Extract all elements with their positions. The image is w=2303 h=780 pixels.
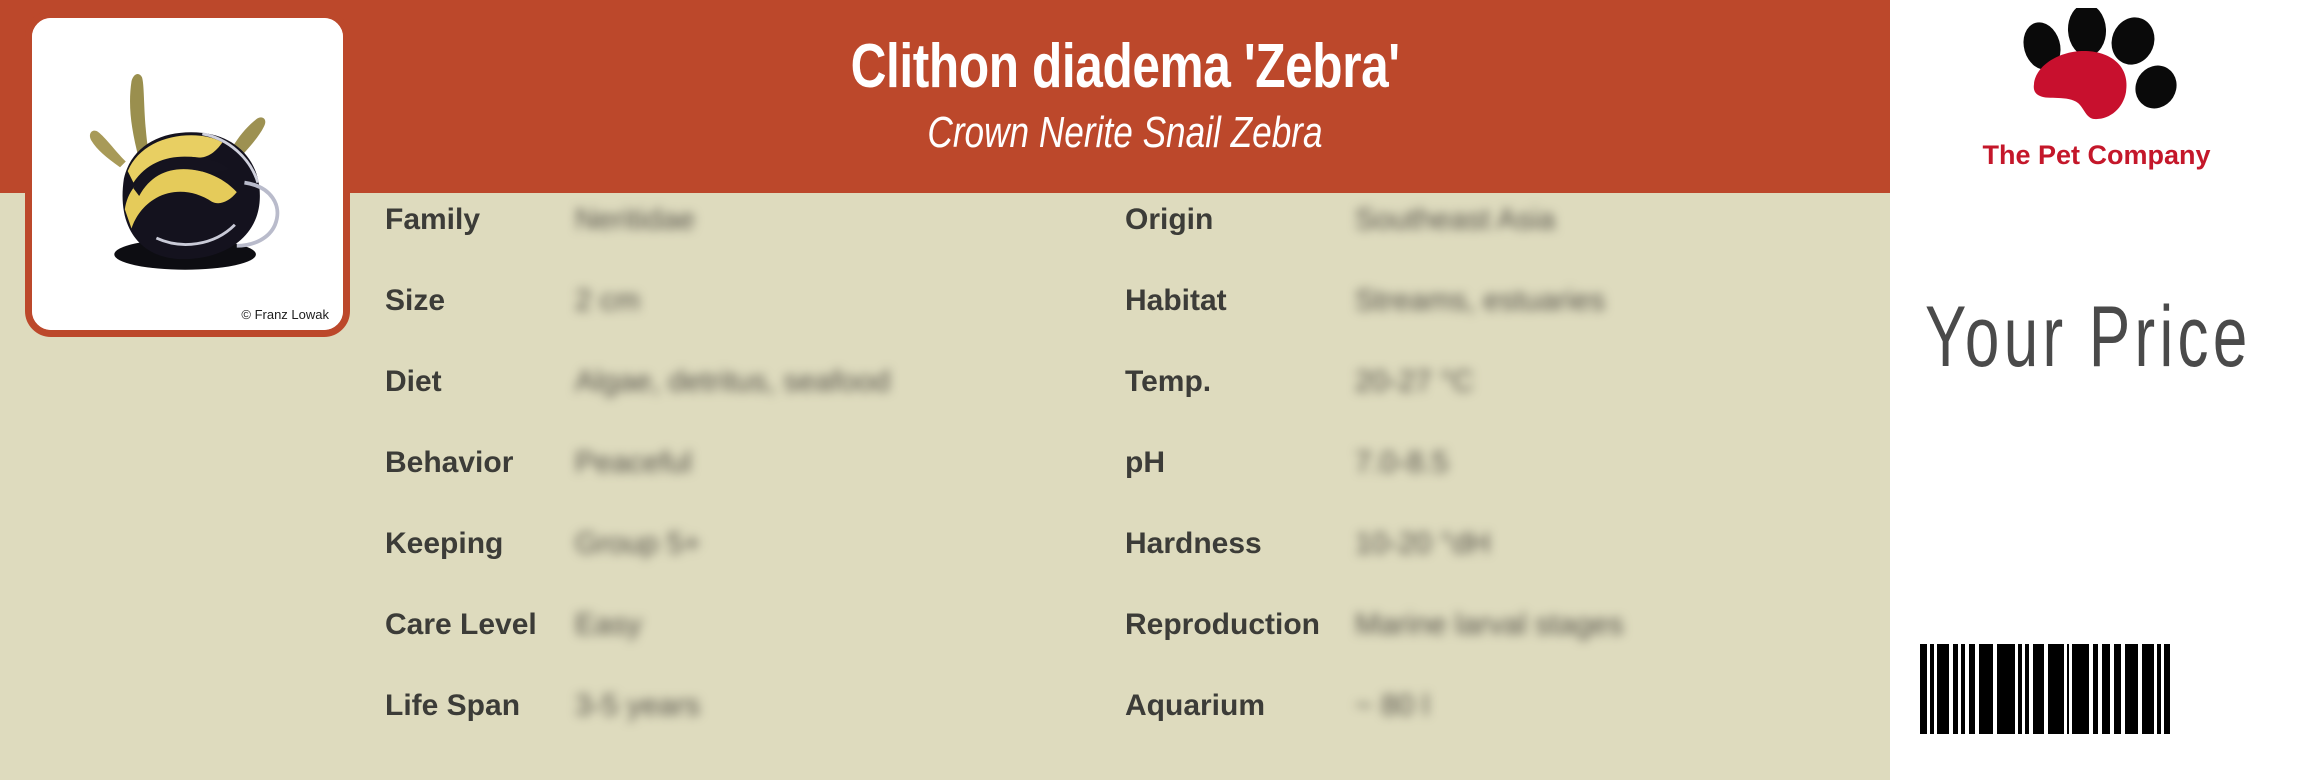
- spec-value-hardness: 10-20 °dH: [1355, 529, 1490, 559]
- spec-row: Habitat Streams, estuaries: [1125, 286, 1865, 367]
- spec-value-temp: 20-27 °C: [1355, 367, 1474, 397]
- spec-row: Keeping Group 5+: [385, 529, 1125, 610]
- spec-label-behavior: Behavior: [385, 448, 575, 478]
- species-photo-card: © Franz Lowak: [25, 11, 350, 337]
- spec-row: Behavior Peaceful: [385, 448, 1125, 529]
- spec-row: Size 2 cm: [385, 286, 1125, 367]
- spec-value-behavior: Peaceful: [575, 448, 692, 478]
- spec-value-reproduction: Marine larval stages: [1355, 610, 1623, 640]
- title-block: Clithon diadema 'Zebra' Crown Nerite Sna…: [360, 0, 1890, 193]
- spec-label-family: Family: [385, 205, 575, 235]
- spec-row: Hardness 10-20 °dH: [1125, 529, 1865, 610]
- spec-row: pH 7.0-8.5: [1125, 448, 1865, 529]
- spec-label-origin: Origin: [1125, 205, 1355, 235]
- spec-value-family: Neritidae: [575, 205, 695, 235]
- photo-credit: © Franz Lowak: [241, 307, 329, 322]
- species-spec-table: Family Neritidae Size 2 cm Diet Algae, d…: [385, 205, 1865, 772]
- brand-name: The Pet Company: [1890, 140, 2303, 171]
- spec-row: Care Level Easy: [385, 610, 1125, 691]
- spec-row: Family Neritidae: [385, 205, 1125, 286]
- spec-label-ph: pH: [1125, 448, 1355, 478]
- spec-label-care-level: Care Level: [385, 610, 575, 640]
- spec-value-ph: 7.0-8.5: [1355, 448, 1448, 478]
- spec-value-care-level: Easy: [575, 610, 642, 640]
- spec-value-keeping: Group 5+: [575, 529, 701, 559]
- spec-label-temp: Temp.: [1125, 367, 1355, 397]
- spec-value-diet: Algae, detritus, seafood: [575, 367, 890, 397]
- page-title: Clithon diadema 'Zebra': [850, 36, 1399, 98]
- spec-column-right: Origin Southeast Asia Habitat Streams, e…: [1125, 205, 1865, 772]
- spec-row: Reproduction Marine larval stages: [1125, 610, 1865, 691]
- spec-label-life-span: Life Span: [385, 691, 575, 721]
- spec-row: Diet Algae, detritus, seafood: [385, 367, 1125, 448]
- spec-label-habitat: Habitat: [1125, 286, 1355, 316]
- barcode-icon: [1920, 644, 2170, 734]
- spec-value-origin: Southeast Asia: [1355, 205, 1555, 235]
- spec-value-size: 2 cm: [575, 286, 640, 316]
- spec-row: Temp. 20-27 °C: [1125, 367, 1865, 448]
- spec-label-keeping: Keeping: [385, 529, 575, 559]
- spec-label-diet: Diet: [385, 367, 575, 397]
- price-panel: The Pet Company Your Price: [1890, 0, 2303, 780]
- spec-row: Aquarium ~ 80 l: [1125, 691, 1865, 772]
- spec-row: Life Span 3-5 years: [385, 691, 1125, 772]
- spec-label-size: Size: [385, 286, 575, 316]
- spec-label-aquarium: Aquarium: [1125, 691, 1355, 721]
- page-subtitle: Crown Nerite Snail Zebra: [927, 110, 1322, 156]
- spec-row: Origin Southeast Asia: [1125, 205, 1865, 286]
- spec-value-life-span: 3-5 years: [575, 691, 700, 721]
- price-label: Your Price: [1925, 288, 2252, 387]
- spec-value-aquarium: ~ 80 l: [1355, 691, 1429, 721]
- spec-column-left: Family Neritidae Size 2 cm Diet Algae, d…: [385, 205, 1125, 772]
- snail-photo: [32, 18, 343, 330]
- brand-logo: The Pet Company: [1890, 2, 2303, 202]
- spec-label-hardness: Hardness: [1125, 529, 1355, 559]
- spec-label-reproduction: Reproduction: [1125, 610, 1355, 640]
- spec-value-habitat: Streams, estuaries: [1355, 286, 1605, 316]
- paw-print-icon: [2010, 8, 2200, 133]
